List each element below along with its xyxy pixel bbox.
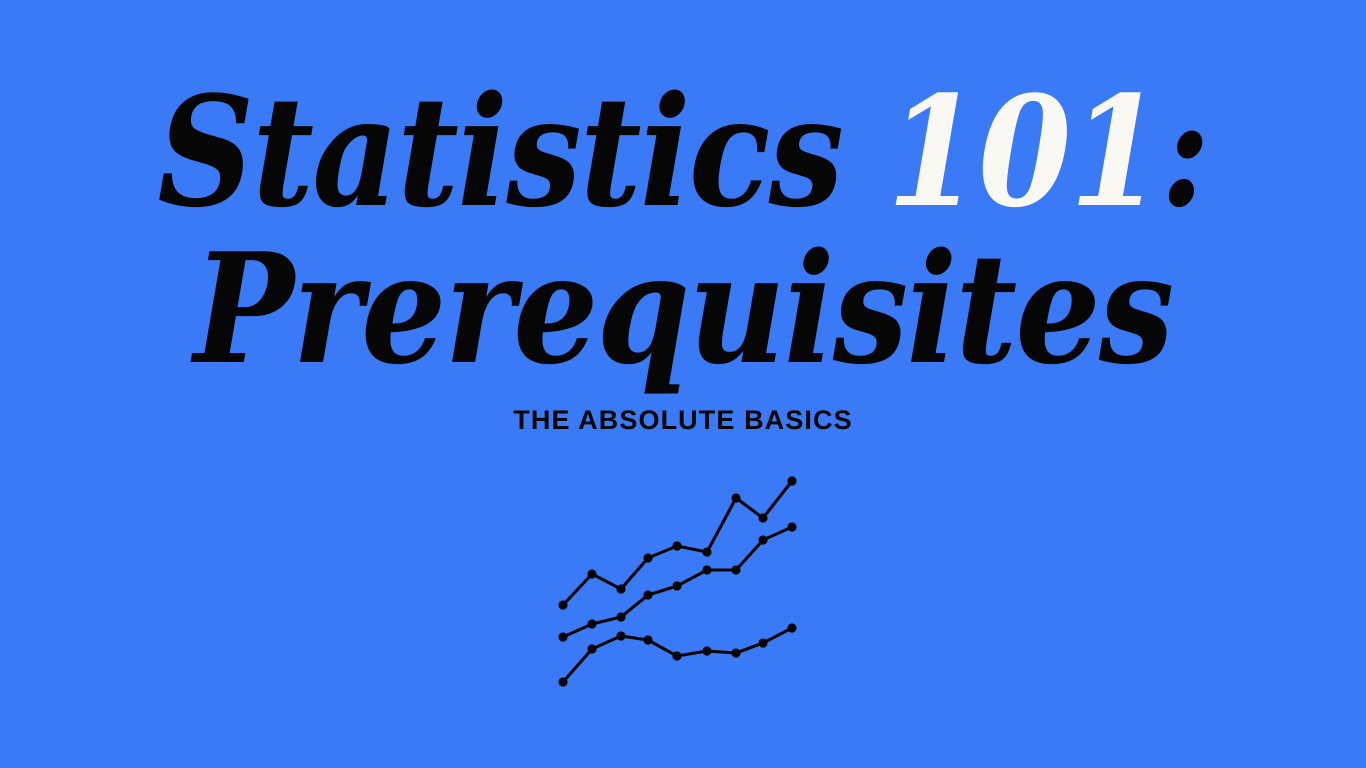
series-data-point — [558, 677, 567, 686]
series-data-point — [758, 535, 767, 544]
series-data-point — [616, 612, 625, 621]
series-data-point — [702, 565, 711, 574]
chart-series-layer — [558, 476, 796, 686]
series-data-point — [616, 584, 625, 593]
series-data-point — [787, 476, 796, 485]
series-data-point — [758, 638, 767, 647]
series-data-point — [672, 541, 681, 550]
series-data-point — [587, 569, 596, 578]
series-data-point — [672, 581, 681, 590]
series-data-point — [787, 522, 796, 531]
slide-canvas: Statistics 101: Prerequisites THE ABSOLU… — [0, 0, 1366, 768]
title-accent-number: 101 — [887, 62, 1161, 241]
series-data-point — [587, 619, 596, 628]
series-data-point — [731, 648, 740, 657]
series-data-point — [643, 553, 652, 562]
series-data-point — [731, 565, 740, 574]
title-line-2: Prerequisites — [82, 235, 1284, 384]
title-main-word: Statistics — [157, 62, 842, 241]
series-data-point — [787, 623, 796, 632]
chart-svg — [540, 460, 820, 700]
series-data-point — [702, 547, 711, 556]
chart-series-2 — [558, 522, 796, 641]
series-data-point — [587, 644, 596, 653]
series-data-point — [558, 632, 567, 641]
series-data-point — [643, 635, 652, 644]
title-line-1: Statistics 101: — [82, 78, 1284, 227]
series-data-point — [758, 513, 767, 522]
title-colon: : — [1161, 62, 1209, 241]
page-title: Statistics 101: Prerequisites — [0, 78, 1366, 384]
series-data-point — [672, 651, 681, 660]
series-data-point — [731, 493, 740, 502]
series-data-point — [702, 646, 711, 655]
series-data-point — [643, 590, 652, 599]
subtitle: THE ABSOLUTE BASICS — [0, 405, 1366, 436]
series-data-point — [616, 631, 625, 640]
series-data-point — [558, 600, 567, 609]
line-chart-illustration — [540, 460, 820, 700]
chart-series-3 — [558, 623, 796, 686]
